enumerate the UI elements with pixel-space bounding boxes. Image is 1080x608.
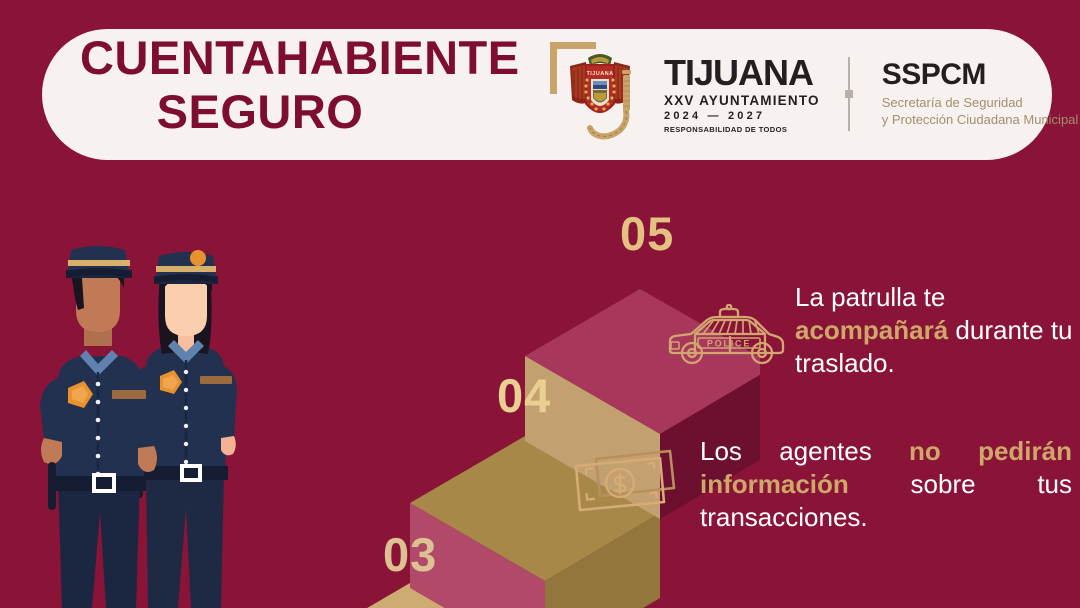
tagline: RESPONSABILIDAD DE TODOS: [664, 125, 820, 134]
department-acronym: SSPCM: [882, 60, 1079, 90]
banknote-icon: [570, 444, 676, 516]
term-years: 2024 — 2027: [664, 110, 820, 122]
institutional-logo-lockup: TIJUANA: [548, 38, 1078, 150]
message-no-info: Los agentes no pedirán información sobre…: [700, 435, 1072, 533]
logo-divider: [848, 57, 850, 131]
svg-text:TIJUANA: TIJUANA: [586, 71, 613, 77]
police-car-label: POLICE: [707, 339, 751, 349]
department-line-1: Secretaría de Seguridad: [882, 95, 1023, 110]
title-line-2: SEGURO: [80, 88, 550, 136]
message-patrol-highlight: acompañará: [795, 315, 948, 345]
poster-canvas: CUENTAHABIENTE SEGURO: [0, 0, 1080, 608]
tijuana-coat-of-arms: TIJUANA: [548, 40, 652, 148]
crest-icon: TIJUANA: [560, 48, 640, 144]
title-line-1: CUENTAHABIENTE: [80, 34, 550, 82]
city-name: TIJUANA: [664, 55, 820, 91]
police-car-icon: POLICE: [665, 304, 787, 372]
tijuana-wordmark: TIJUANA XXV AYUNTAMIENTO 2024 — 2027 RES…: [664, 55, 820, 134]
male-police-officer: [40, 246, 158, 608]
council-name: XXV AYUNTAMIENTO: [664, 93, 820, 108]
message-no-info-part1: Los agentes: [700, 436, 909, 466]
message-patrol-part1: La patrulla te: [795, 282, 945, 312]
message-patrol: La patrulla te acompañará durante tu tra…: [795, 281, 1075, 379]
department-lockup: SSPCM Secretaría de Seguridad y Protecci…: [882, 60, 1079, 128]
page-title: CUENTAHABIENTE SEGURO: [80, 34, 550, 136]
police-officers-illustration: [28, 240, 278, 608]
department-line-2: y Protección Ciudadana Municipal: [882, 112, 1079, 127]
